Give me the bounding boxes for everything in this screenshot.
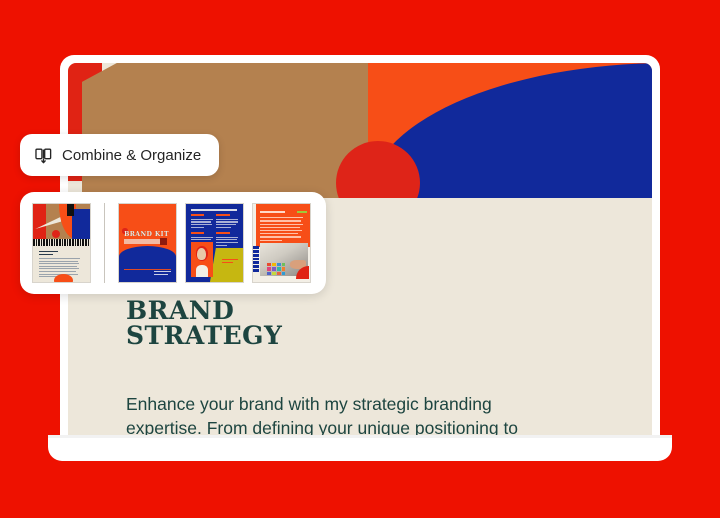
thumb1-blue-block	[72, 209, 90, 239]
thumb1-black-block	[67, 204, 74, 216]
thumbnail-divider	[104, 203, 105, 283]
page-thumbnail-3[interactable]	[185, 203, 244, 283]
page-paragraph: Enhance your brand with my strategic bra…	[126, 392, 556, 435]
thumb2-dark-bar	[160, 238, 167, 245]
thumb2-blue-curve	[119, 246, 176, 282]
combine-organize-tooltip[interactable]: Combine & Organize	[20, 134, 219, 176]
thumb1-red-block	[33, 204, 46, 239]
combine-organize-label: Combine & Organize	[62, 147, 201, 164]
page-thumbnail-4[interactable]	[252, 203, 311, 283]
screenshot-stage: BRAND STRATEGY Enhance your brand with m…	[0, 0, 720, 518]
thumb2-title: BRAND KIT	[124, 231, 169, 238]
page-thumbnail-card[interactable]: BRAND KIT	[20, 192, 326, 294]
thumb4-color-chips	[267, 263, 289, 270]
thumb4-text-lines	[260, 217, 303, 243]
thumb1-stripes	[33, 239, 90, 246]
document-artwork	[68, 63, 652, 198]
page-thumbnail-1[interactable]	[32, 203, 91, 283]
thumb3-photo-head	[197, 248, 206, 260]
laptop-base	[48, 435, 672, 461]
thumb2-footer-lines	[154, 271, 171, 276]
artwork-tan-block	[82, 63, 372, 198]
page-title: BRAND STRATEGY	[126, 298, 652, 348]
combine-organize-icon	[34, 146, 53, 165]
thumb2-rule	[124, 269, 172, 270]
thumb3-header-rule	[191, 209, 238, 211]
thumb3-footer-lines	[222, 259, 238, 265]
page-thumbnail-2[interactable]: BRAND KIT	[118, 203, 177, 283]
thumb4-header-rule	[260, 211, 285, 213]
thumb3-portrait-photo	[191, 242, 214, 277]
thumb4-green-accent	[297, 211, 306, 213]
thumb4-swatch-strip	[253, 246, 259, 266]
thumb3-photo-body	[196, 265, 209, 277]
thumb1-orange-circle	[54, 274, 73, 283]
